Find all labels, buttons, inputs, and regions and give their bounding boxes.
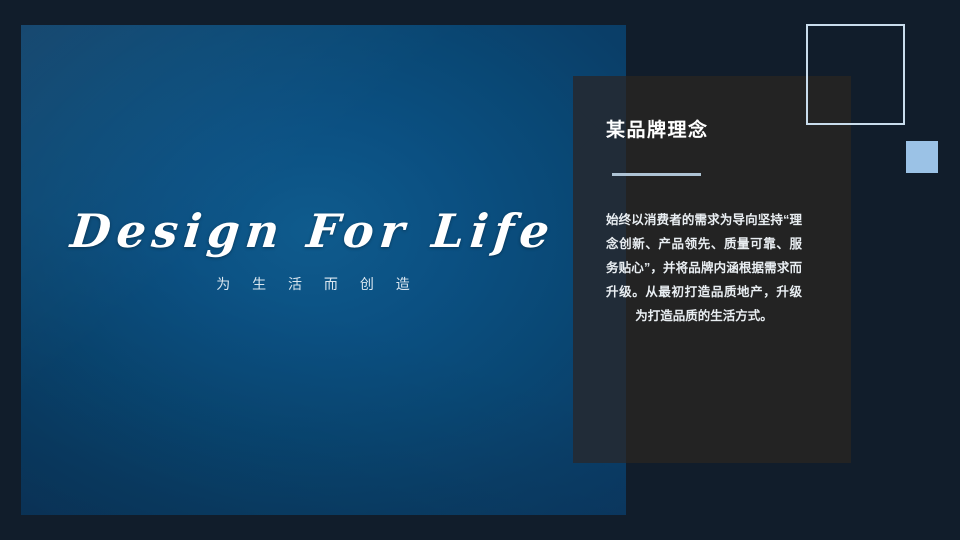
hero-script-title: Design For Life xyxy=(0,205,629,258)
hero-headline-block: Design For Life 为 生 活 而 创 造 xyxy=(0,205,626,294)
decorative-accent-square xyxy=(906,141,938,173)
content-panel-body-text: 始终以消费者的需求为导向坚持“理念创新、产品领先、质量可靠、服务贴心”，并将品牌… xyxy=(606,208,802,328)
decorative-outline-square xyxy=(806,24,905,125)
title-underline-rule xyxy=(612,173,701,176)
slide-canvas: Design For Life 为 生 活 而 创 造 某品牌理念 始终以消费者… xyxy=(0,0,960,540)
hero-subtitle: 为 生 活 而 创 造 xyxy=(0,274,626,294)
content-panel-title: 某品牌理念 xyxy=(606,115,709,142)
